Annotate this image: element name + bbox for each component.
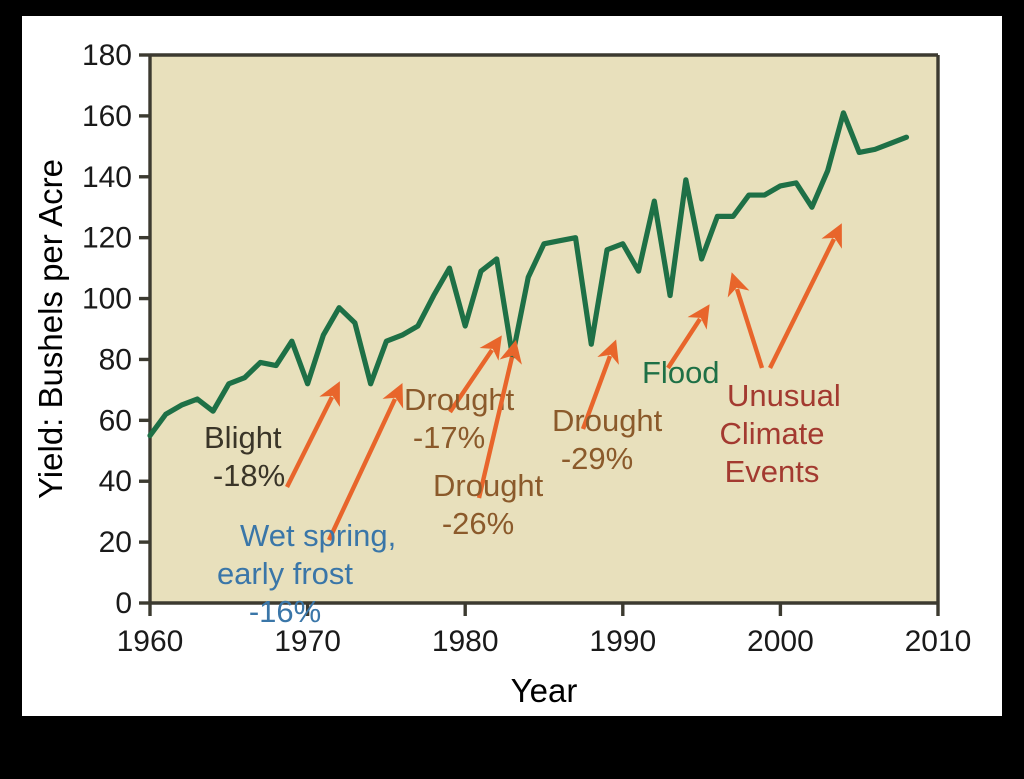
x-tick-label: 2010 bbox=[905, 625, 972, 658]
y-tick-label: 160 bbox=[82, 100, 132, 133]
y-tick-label: 100 bbox=[82, 283, 132, 316]
y-tick-label: 140 bbox=[82, 161, 132, 194]
x-tick-label: 1990 bbox=[589, 625, 656, 658]
y-tick-label: 80 bbox=[99, 343, 132, 376]
x-axis-title: Year bbox=[511, 672, 578, 709]
chart-svg: 020406080100120140160180 196019701980199… bbox=[22, 16, 1002, 716]
y-tick-label: 180 bbox=[82, 39, 132, 72]
annotation-label-flood: Flood bbox=[642, 355, 720, 390]
x-tick-label: 1960 bbox=[117, 625, 184, 658]
x-tick-label: 1980 bbox=[432, 625, 499, 658]
x-tick-label: 1970 bbox=[274, 625, 341, 658]
x-tick-label: 2000 bbox=[747, 625, 814, 658]
y-tick-label: 60 bbox=[99, 404, 132, 437]
y-axis: 020406080100120140160180 bbox=[82, 39, 150, 620]
figure-canvas: 020406080100120140160180 196019701980199… bbox=[22, 16, 1002, 716]
yield-line-chart: 020406080100120140160180 196019701980199… bbox=[22, 16, 1002, 716]
y-tick-label: 20 bbox=[99, 526, 132, 559]
y-tick-label: 120 bbox=[82, 222, 132, 255]
y-axis-title: Yield: Bushels per Acre bbox=[32, 159, 69, 499]
y-tick-label: 0 bbox=[115, 587, 132, 620]
y-tick-label: 40 bbox=[99, 465, 132, 498]
